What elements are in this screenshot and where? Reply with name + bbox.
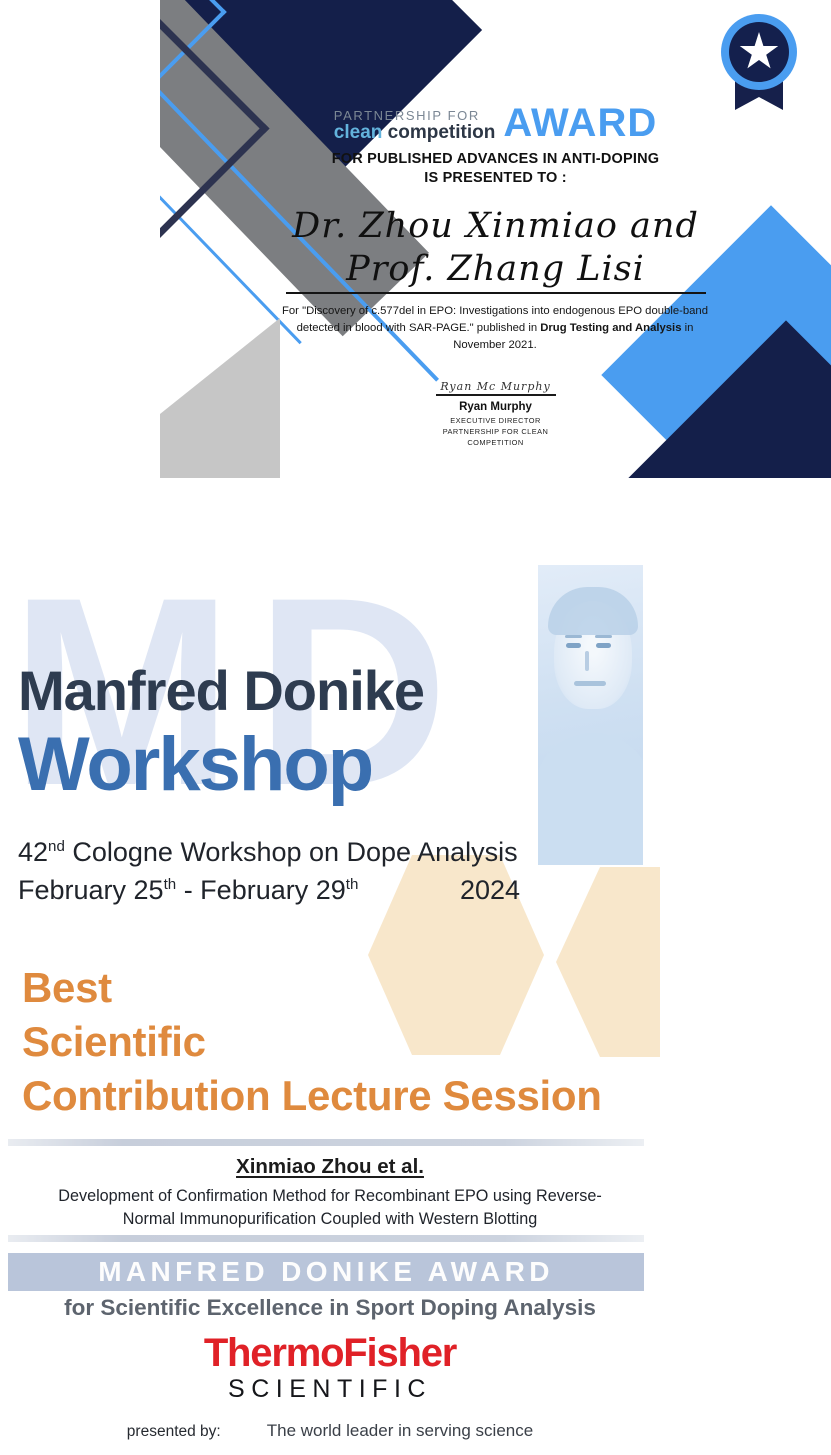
- thermofisher-scientific: SCIENTIFIC: [0, 1375, 660, 1404]
- certificate-header: PARTNERSHIP FOR clean competition AWARD …: [160, 105, 831, 189]
- signatory-role: EXECUTIVE DIRECTOR PARTNERSHIP FOR CLEAN…: [160, 415, 831, 448]
- portrait-brow-left: [565, 635, 582, 638]
- workshop-dates: February 25th - February 29th: [18, 875, 358, 906]
- portrait-eye-left: [566, 643, 581, 648]
- pcc-logo: PARTNERSHIP FOR clean competition AWARD: [334, 105, 657, 142]
- recipient-names: Dr. Zhou Xinmiao and Prof. Zhang Lisi: [160, 205, 831, 294]
- signatory-role-line1: EXECUTIVE DIRECTOR: [160, 415, 831, 426]
- citation-journal: Drug Testing and Analysis: [540, 322, 681, 334]
- portrait-brow-right: [595, 635, 612, 638]
- citation-line1: For "Discovery of c.577del in EPO: Inves…: [282, 305, 615, 317]
- signature-script: Ryan Mc Murphy: [160, 380, 831, 393]
- award-category-line2: Scientific: [22, 1021, 206, 1063]
- pcc-logo-competition: competition: [388, 122, 496, 143]
- edition-rest: Cologne Workshop on Dope Analysis: [65, 837, 518, 867]
- poster-title-line2: Workshop: [18, 727, 372, 803]
- signatory-name: Ryan Murphy: [160, 401, 831, 413]
- signatory-role-line2: PARTNERSHIP FOR CLEAN: [160, 426, 831, 437]
- thermofisher-logo: ThermoFisher SCIENTIFIC: [0, 1333, 660, 1404]
- star-medal-icon: [715, 12, 803, 112]
- sponsor-row: presented by: The world leader in servin…: [0, 1421, 660, 1441]
- certificate-subtitle: FOR PUBLISHED ADVANCES IN ANTI-DOPING IS…: [160, 150, 831, 189]
- recipient-underline: [286, 292, 706, 294]
- divider-bar-top: [8, 1139, 644, 1146]
- date-start: February 25: [18, 875, 164, 905]
- edition-ordinal: nd: [48, 838, 65, 855]
- paper-title-line1: Development of Confirmation Method for R…: [58, 1187, 601, 1205]
- workshop-edition: 42nd Cologne Workshop on Dope Analysis: [18, 837, 518, 868]
- pcc-logo-line2: clean competition: [334, 123, 496, 142]
- pcc-award-certificate: PARTNERSHIP FOR clean competition AWARD …: [160, 0, 831, 478]
- md-award-banner: MANFRED DONIKE AWARD: [8, 1253, 644, 1291]
- manfred-donike-portrait: [538, 565, 643, 865]
- md-award-banner-text: MANFRED DONIKE AWARD: [98, 1256, 554, 1288]
- pcc-logo-clean: clean: [334, 122, 383, 143]
- certificate-subtitle-line2: IS PRESENTED TO :: [160, 169, 831, 189]
- date-start-ordinal: th: [164, 876, 177, 893]
- signatory-role-line3: COMPETITION: [160, 437, 831, 448]
- date-separator: - February 29: [176, 875, 346, 905]
- manfred-donike-award-poster: M D Manfred Donike Workshop 42nd Cologne…: [0, 535, 660, 1455]
- thermofisher-wordmark: ThermoFisher: [0, 1333, 660, 1373]
- divider-bar-bottom: [8, 1235, 644, 1242]
- signature-rule: [436, 394, 556, 396]
- paper-title-line2: Normal Immunopurification Coupled with W…: [123, 1210, 537, 1228]
- portrait-eye-right: [596, 643, 611, 648]
- certificate-subtitle-line1: FOR PUBLISHED ADVANCES IN ANTI-DOPING: [160, 150, 831, 170]
- recipient-name-2: Prof. Zhang Lisi: [160, 248, 831, 291]
- recipient-name-1: Dr. Zhou Xinmiao and: [160, 205, 831, 248]
- portrait-nose: [585, 651, 589, 671]
- award-recipient-author: Xinmiao Zhou et al.: [0, 1155, 660, 1179]
- award-category-line3: Contribution Lecture Session: [22, 1075, 602, 1117]
- award-paper-title: Development of Confirmation Method for R…: [30, 1185, 630, 1231]
- sponsor-tagline: The world leader in serving science: [267, 1421, 533, 1441]
- hexagon-decoration-2: [556, 867, 660, 1057]
- portrait-mouth: [574, 681, 606, 686]
- portrait-body: [538, 733, 643, 865]
- date-end-ordinal: th: [346, 876, 359, 893]
- md-award-banner-subtitle: for Scientific Excellence in Sport Dopin…: [0, 1295, 660, 1321]
- workshop-year: 2024: [460, 875, 520, 906]
- portrait-hair: [548, 587, 638, 635]
- signature-block: Ryan Mc Murphy Ryan Murphy EXECUTIVE DIR…: [160, 380, 831, 448]
- presented-by-label: presented by:: [127, 1423, 221, 1441]
- pcc-logo-line1: PARTNERSHIP FOR: [334, 109, 496, 122]
- poster-title-line1: Manfred Donike: [18, 663, 424, 719]
- pcc-logo-text: PARTNERSHIP FOR clean competition: [334, 109, 496, 142]
- award-wordmark: AWARD: [503, 105, 657, 142]
- award-category-line1: Best: [22, 967, 112, 1009]
- citation-text: For "Discovery of c.577del in EPO: Inves…: [275, 303, 715, 354]
- edition-number: 42: [18, 837, 48, 867]
